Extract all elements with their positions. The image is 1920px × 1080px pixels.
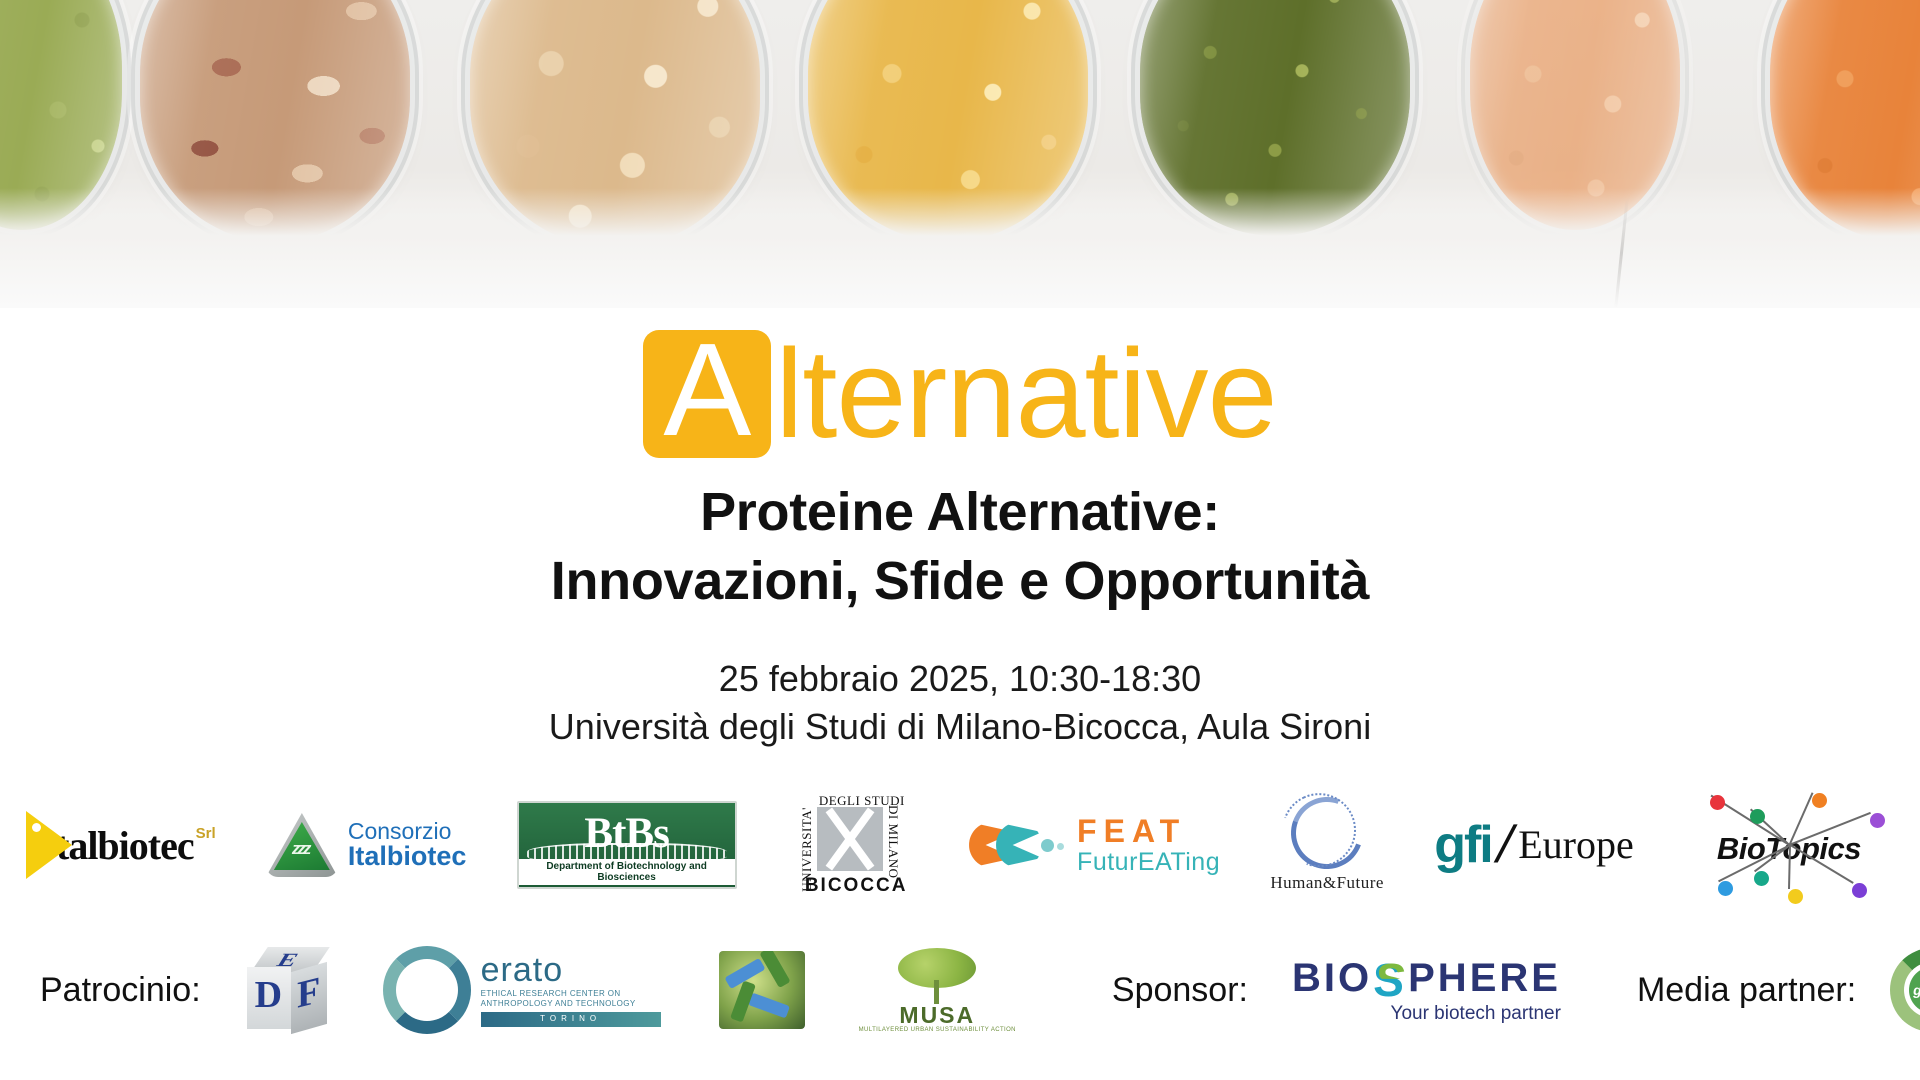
logo-universita-milano-bicocca: DEGLI STUDI UNIVERSITA' DI MILANO BICOCC… [787, 795, 919, 895]
biotopics-node-dot [1718, 881, 1733, 896]
erato-subtitle: ETHICAL RESEARCH CENTER ON ANTHROPOLOGY … [481, 989, 661, 1009]
biotopics-node-dot [1710, 795, 1725, 810]
feat-pacman-icon [969, 817, 1065, 873]
bicocca-right-text: DI MILANO [885, 805, 901, 878]
hero-photo-banner [0, 0, 1920, 308]
logo-human-and-future: Human&Future [1270, 797, 1384, 893]
logo-initial-box: A [643, 330, 771, 458]
patrocinio-label: Patrocinio: [40, 971, 201, 1010]
consorzio-line-2: Italbiotec [348, 843, 467, 871]
logo-gfi-europe: gfi / Europe [1434, 819, 1634, 871]
italbiotec-triangle-icon [26, 811, 72, 879]
gfi-region: Europe [1518, 825, 1634, 865]
feat-name: FEAT [1077, 815, 1220, 849]
logo-feat: FEAT FuturEATing [969, 815, 1220, 875]
italbiotec-suffix: Srl [196, 825, 216, 842]
recycle-arrows-icon: green [1890, 948, 1920, 1032]
consorzio-triangle-icon: zzz [266, 813, 338, 877]
italbiotec-wordmark: talbiotec [56, 822, 194, 869]
feat-tagline: FuturEATing [1077, 849, 1220, 875]
logo-initial: A [663, 324, 751, 456]
edf-cube-icon: E D F [245, 947, 331, 1033]
event-logo: A lternative [0, 330, 1920, 458]
title-line-1: Proteine Alternative: [0, 478, 1920, 547]
musa-wordmark: MUSA [899, 1004, 975, 1027]
logo-erato: erato ETHICAL RESEARCH CENTER ON ANTHROP… [383, 946, 661, 1034]
logo-wordmark-text: lternative [775, 331, 1276, 457]
partner-logos-row-2: Patrocinio: E D F erato ETHICAL RESEARCH… [0, 930, 1920, 1050]
erato-city: TORINO [481, 1012, 661, 1026]
biotopics-node-dot [1754, 871, 1769, 886]
erato-wordmark: erato [481, 953, 661, 989]
event-meta: 25 febbraio 2025, 10:30-18:30 Università… [0, 655, 1920, 750]
bicocca-bottom-text: BICOCCA [805, 875, 908, 897]
swirl-circle-icon [1279, 785, 1375, 881]
biotopics-node-dot [1870, 813, 1885, 828]
human-future-wordmark: Human&Future [1270, 873, 1384, 893]
logo-biosphere: BIO PHERE Your biotech partner [1292, 956, 1561, 1025]
tree-icon [894, 948, 980, 1004]
logo-globe-network [719, 951, 805, 1029]
erato-ring-icon [383, 946, 471, 1034]
biotopics-node-dot [1750, 809, 1765, 824]
gfi-slash-icon: / [1491, 819, 1518, 871]
consorzio-line-1: Consorzio [348, 820, 467, 843]
logo-biotopics: BioTopics [1684, 791, 1894, 899]
globe-arrows-icon [719, 951, 805, 1029]
green-wordmark: green [1913, 982, 1920, 998]
media-partner-label: Media partner: [1637, 971, 1856, 1010]
bicocca-cross-icon [817, 807, 883, 871]
title-line-2: Innovazioni, Sfide e Opportunità [0, 547, 1920, 616]
biotopics-node-dot [1788, 889, 1803, 904]
biosphere-tagline: Your biotech partner [1391, 1003, 1561, 1025]
event-title: Proteine Alternative: Innovazioni, Sfide… [0, 478, 1920, 616]
musa-subtitle: MULTILAYERED URBAN SUSTAINABILITY ACTION [859, 1027, 1016, 1033]
logo-consorzio-italbiotec: zzz Consorzio Italbiotec [266, 813, 467, 877]
sponsor-label: Sponsor: [1112, 971, 1248, 1010]
marble-surface [0, 188, 1920, 308]
partner-logos-row-1: talbiotec Srl zzz Consorzio Italbiotec B… [0, 790, 1920, 900]
event-datetime: 25 febbraio 2025, 10:30-18:30 [0, 655, 1920, 703]
biosphere-suffix: PHERE [1408, 956, 1561, 1001]
biotopics-node-dot [1852, 883, 1867, 898]
edf-letter-f: F [297, 968, 320, 1018]
logo-btbs: BtBs Department of Biotechnology and Bio… [517, 801, 737, 889]
edf-letter-d: D [255, 973, 282, 1017]
btbs-subtitle: Department of Biotechnology and Bioscien… [519, 859, 735, 885]
biosphere-s-icon [1373, 956, 1407, 1000]
biotopics-node-dot [1812, 793, 1827, 808]
logo-italbiotec: talbiotec Srl [26, 811, 216, 879]
logo-musa: MUSA MULTILAYERED URBAN SUSTAINABILITY A… [859, 948, 1016, 1033]
logo-edf: E D F [245, 947, 331, 1033]
gfi-mark: gfi [1434, 819, 1492, 871]
logo-green-media: green [1890, 948, 1920, 1032]
event-venue: Università degli Studi di Milano-Bicocca… [0, 703, 1920, 751]
dna-glyph-icon: zzz [292, 839, 309, 859]
biosphere-prefix: BIO [1292, 956, 1372, 1001]
